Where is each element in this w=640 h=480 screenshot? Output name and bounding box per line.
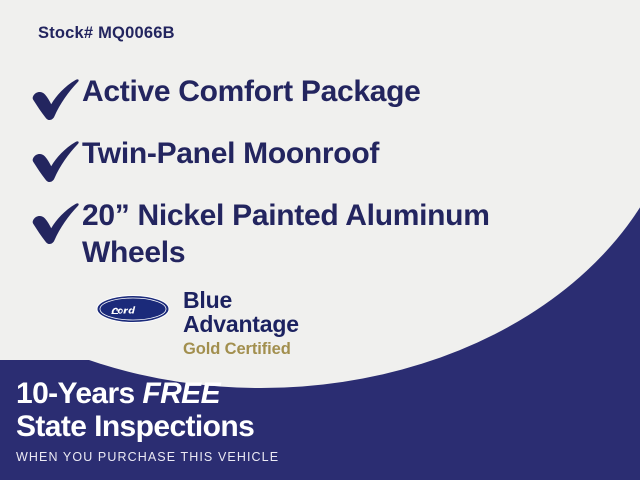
promo-block: 10-Years FREE State Inspections WHEN YOU… <box>16 377 616 464</box>
promo-subtext: WHEN YOU PURCHASE THIS VEHICLE <box>16 450 616 464</box>
list-item: 20” Nickel Painted Aluminum Wheels <box>30 198 530 271</box>
checkmark-icon <box>30 78 82 124</box>
badge-tier-label: Gold Certified <box>183 339 299 360</box>
ford-blue-advantage-badge: Blue Advantage Gold Certified <box>96 288 299 359</box>
stock-number: Stock# MQ0066B <box>38 24 175 43</box>
promo-headline-emphasis: FREE <box>142 377 220 410</box>
badge-line-1: Blue <box>183 288 299 312</box>
ford-oval-logo-icon <box>96 294 170 324</box>
list-item: Active Comfort Package <box>30 74 530 124</box>
badge-line-2: Advantage <box>183 312 299 336</box>
checkmark-icon <box>30 202 82 248</box>
list-item-label: Active Comfort Package <box>82 74 530 111</box>
list-item: Twin-Panel Moonroof <box>30 136 530 186</box>
list-item-label: 20” Nickel Painted Aluminum Wheels <box>82 198 530 271</box>
promo-headline-line-1: 10-Years FREE <box>16 377 616 410</box>
promo-headline-prefix: 10-Years <box>16 377 142 410</box>
list-item-label: Twin-Panel Moonroof <box>82 136 530 173</box>
badge-text: Blue Advantage Gold Certified <box>183 288 299 359</box>
checkmark-icon <box>30 140 82 186</box>
promo-headline-line-2: State Inspections <box>16 410 616 443</box>
vehicle-feature-card: Stock# MQ0066B Active Comfort Package Tw… <box>0 0 640 480</box>
feature-list: Active Comfort Package Twin-Panel Moonro… <box>30 74 530 283</box>
